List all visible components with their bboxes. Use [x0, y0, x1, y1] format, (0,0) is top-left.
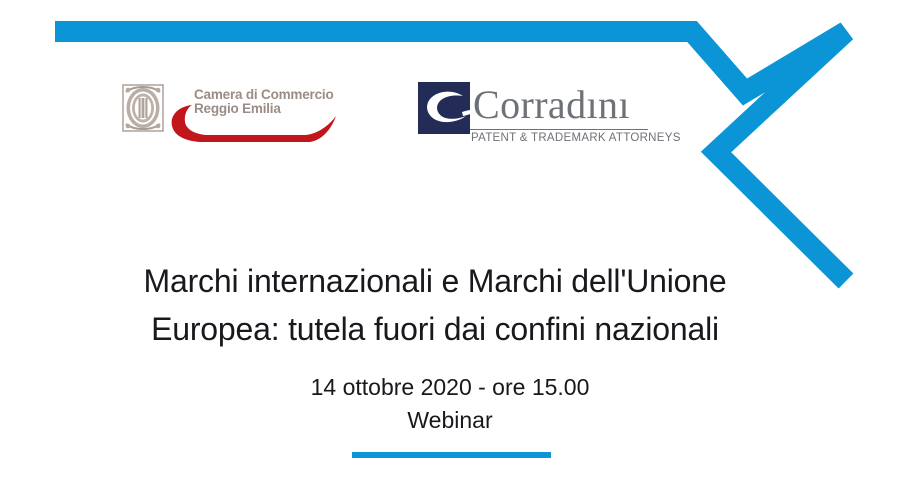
- event-meta: 14 ottobre 2020 - ore 15.00 Webinar: [0, 371, 900, 437]
- page-title: Marchi internazionali e Marchi dell'Unio…: [0, 257, 870, 353]
- page-title-line-2: Europea: tutela fuori dai confini nazion…: [0, 305, 870, 353]
- red-swoosh-icon: [170, 104, 337, 144]
- chamber-crest-icon: [122, 84, 164, 132]
- corradini-logo: Corradını PATENT & TRADEMARK ATTORNEYS: [418, 82, 648, 148]
- event-date-time: 14 ottobre 2020 - ore 15.00: [0, 371, 900, 404]
- corradini-c-mark-icon: [418, 82, 480, 134]
- webinar-poster: Camera di Commercio Reggio Emilia Corrad…: [0, 0, 900, 500]
- logo-row: Camera di Commercio Reggio Emilia Corrad…: [0, 78, 900, 148]
- blue-polyline-path: [55, 32, 846, 282]
- corradini-tagline: PATENT & TRADEMARK ATTORNEYS: [471, 132, 649, 144]
- page-title-line-1: Marchi internazionali e Marchi dell'Unio…: [0, 257, 870, 305]
- camera-di-commercio-logo: Camera di Commercio Reggio Emilia: [122, 78, 337, 148]
- cdc-line-1: Camera di Commercio: [194, 88, 334, 102]
- corradini-wordmark: Corradını: [473, 83, 630, 127]
- corradini-divider: [470, 129, 648, 130]
- event-format: Webinar: [0, 404, 900, 437]
- bottom-accent-rule: [352, 452, 551, 458]
